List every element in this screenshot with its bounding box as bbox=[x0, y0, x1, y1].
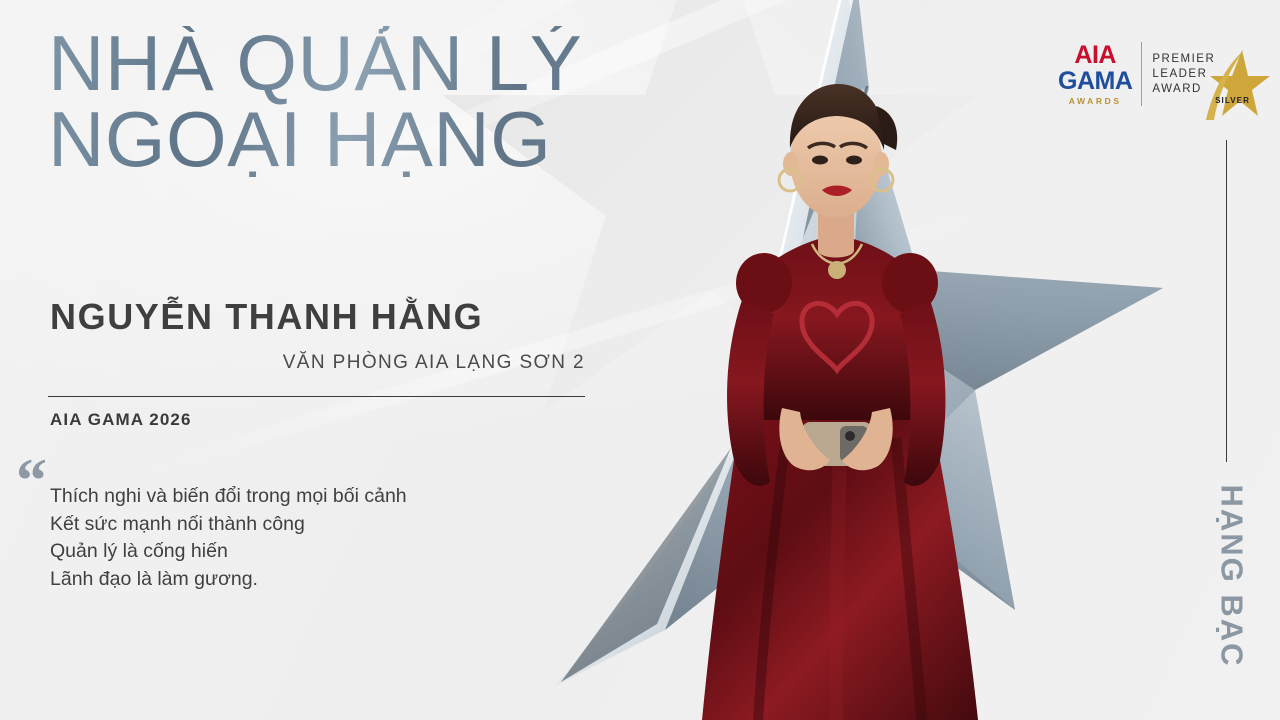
winner-office: VĂN PHÒNG AIA LẠNG SƠN 2 bbox=[50, 352, 585, 374]
winner-name: NGUYỄN THANH HẰNG bbox=[50, 296, 483, 338]
person-illustration bbox=[690, 78, 990, 720]
quote-line: Kết sức mạnh nối thành công bbox=[50, 511, 407, 539]
gold-star-icon bbox=[1198, 46, 1272, 124]
logo-awards-text: AWARDS bbox=[1058, 97, 1132, 106]
logo-wordmark: AIA GAMA AWARDS bbox=[1058, 43, 1141, 106]
section-divider bbox=[48, 396, 585, 397]
program-label: AIA GAMA 2026 bbox=[50, 410, 192, 430]
page-title: NHÀ QUẢN LÝ NGOẠI HẠNG bbox=[48, 26, 688, 177]
quote-block: Thích nghi và biến đổi trong mọi bối cản… bbox=[50, 483, 407, 593]
award-lockup: PREMIER LEADER AWARD SILVER bbox=[1142, 52, 1258, 97]
winner-photo bbox=[690, 78, 990, 720]
award-poster: NHÀ QUẢN LÝ NGOẠI HẠNG NGUYỄN THANH HẰNG… bbox=[0, 0, 1280, 720]
vertical-rule bbox=[1226, 140, 1227, 462]
quote-mark-icon: “ bbox=[16, 450, 47, 512]
quote-line: Thích nghi và biến đổi trong mọi bối cản… bbox=[50, 483, 407, 511]
logo-aia-text: AIA bbox=[1058, 43, 1132, 68]
tier-label: SILVER bbox=[1215, 96, 1250, 105]
rank-label: HẠNG BẠC bbox=[1214, 484, 1250, 667]
rank-badge: HẠNG BẠC bbox=[1182, 480, 1280, 700]
quote-line: Quản lý là cống hiến bbox=[50, 538, 407, 566]
quote-line: Lãnh đạo là làm gương. bbox=[50, 566, 407, 594]
aia-gama-logo: AIA GAMA AWARDS PREMIER LEADER AWARD SIL… bbox=[1058, 38, 1258, 110]
logo-gama-text: GAMA bbox=[1058, 69, 1132, 94]
